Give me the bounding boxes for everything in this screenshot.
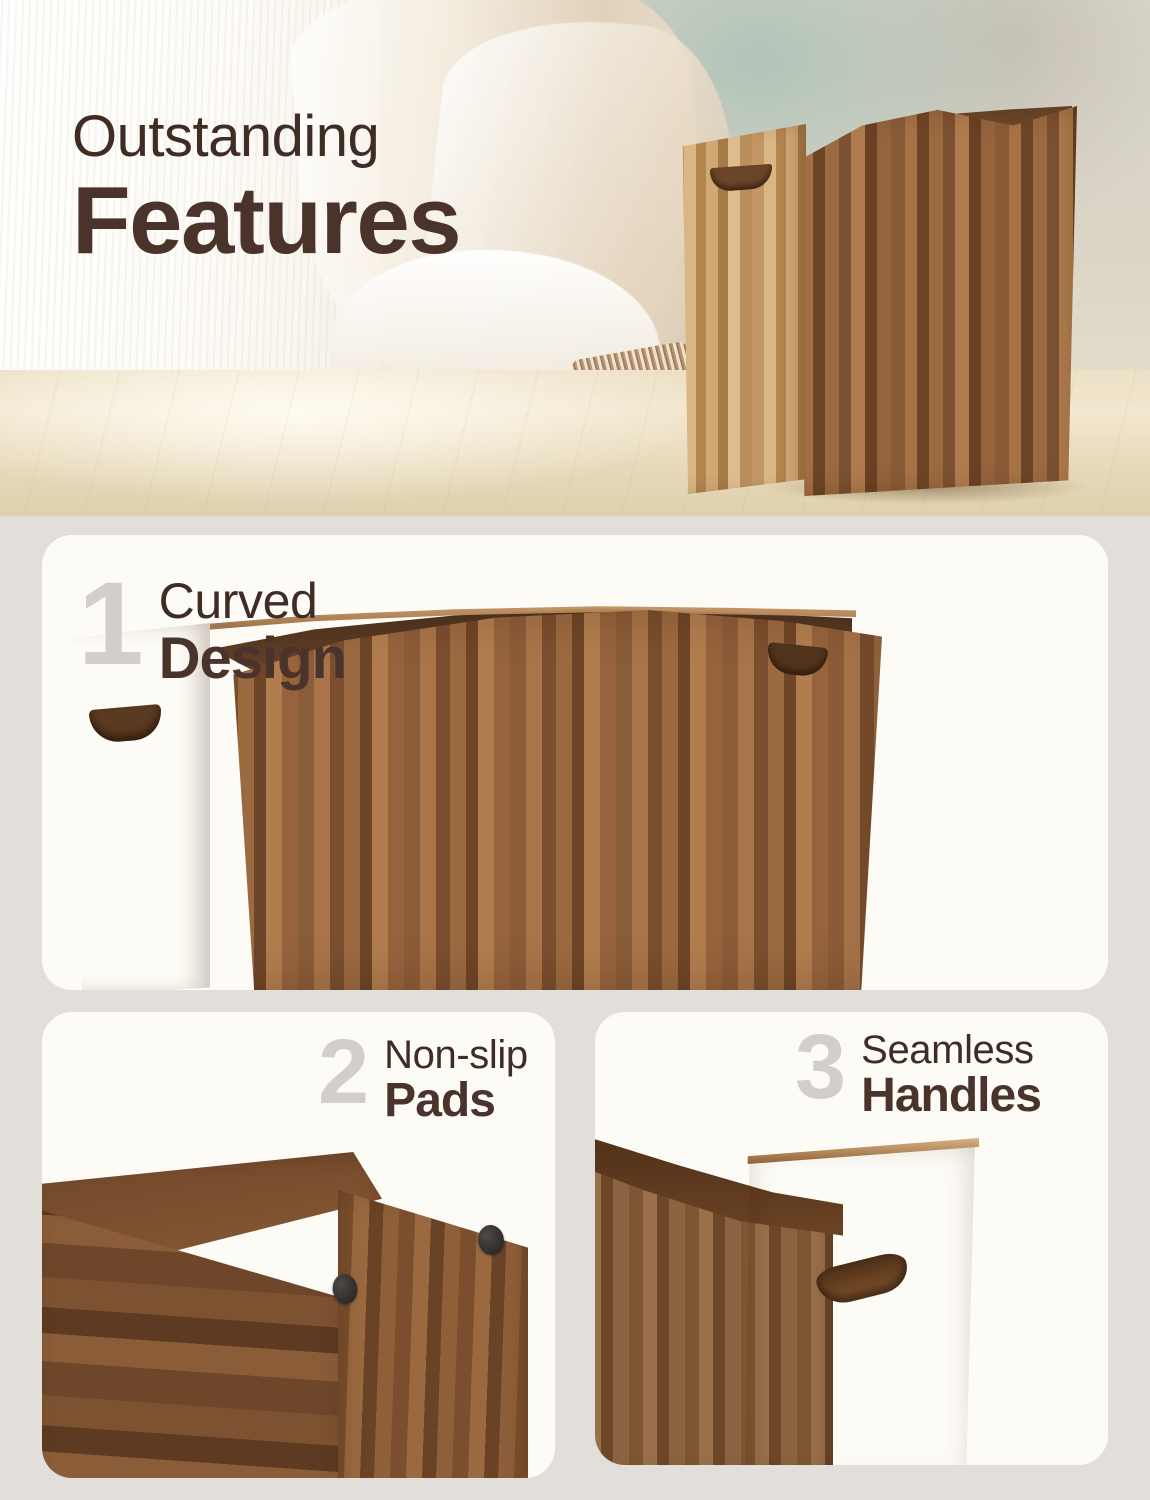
feature-3-title-thin: Seamless: [861, 1030, 1041, 1071]
hero-product-waste-basket: [672, 88, 1102, 488]
feature-2-heading: 2 Non-slip Pads: [318, 1035, 528, 1126]
feature-2-title-bold: Pads: [384, 1077, 528, 1126]
feature-3-number: 3: [795, 1030, 843, 1105]
feature-1-heading: 1 Curved Design: [78, 576, 346, 688]
feature-3-title-bold: Handles: [861, 1072, 1041, 1121]
page-title: Outstanding Features: [72, 108, 460, 270]
hero-banner: Outstanding Features: [0, 0, 1150, 516]
product-front-panel: [745, 1142, 975, 1465]
feature-1-title-thin: Curved: [159, 576, 346, 627]
feature-2-number: 2: [318, 1035, 366, 1110]
feature-1-number: 1: [78, 576, 141, 673]
title-line-thin: Outstanding: [72, 108, 460, 166]
feature-2-title-thin: Non-slip: [384, 1035, 528, 1076]
infographic-page: Outstanding Features 1 Curved Design: [0, 0, 1150, 1500]
product-front-panel: [787, 106, 1077, 496]
feature-1-title-bold: Design: [159, 629, 346, 688]
title-line-bold: Features: [72, 172, 460, 270]
feature-3-heading: 3 Seamless Handles: [795, 1030, 1041, 1121]
